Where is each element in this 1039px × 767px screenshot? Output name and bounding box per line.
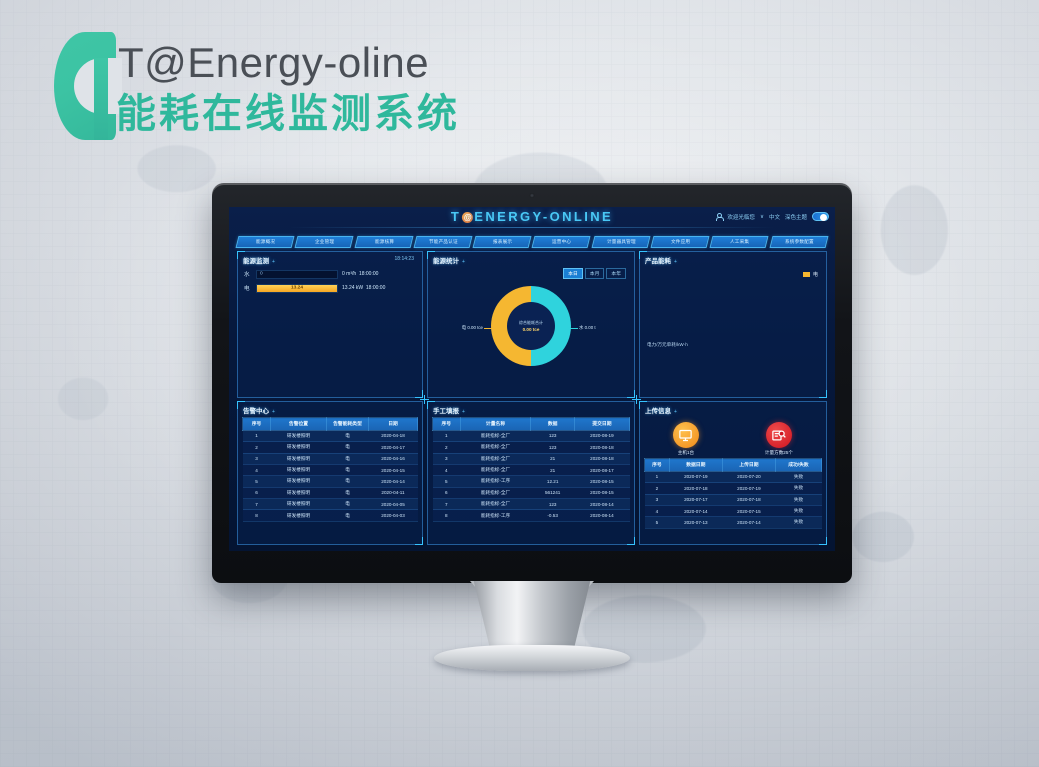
upload-stat-icons: 主机1台 计量方数25个 [640, 422, 826, 456]
computer-monitor: T@ENERGY-ONLINE 欢迎光临您 ∨ 中文 深色主题 能源概况 企业管… [212, 183, 852, 583]
panel-title-text-manual: 手工填报 [433, 408, 459, 415]
panel-title-product: 产品能耗+ [645, 255, 677, 265]
cell: 2020-04-05 [369, 499, 418, 510]
table-row[interactable]: 1研发楼照明电2020-04-18 [243, 430, 418, 441]
cell: 12.21 [531, 476, 574, 487]
table-row[interactable]: 3研发楼照明电2020-04-16 [243, 453, 418, 464]
bar-track-water: 0 [256, 270, 338, 279]
manual-table-header: 序号 计量名称 数据 提交日期 [433, 418, 630, 431]
expand-icon-manual[interactable]: + [462, 409, 465, 415]
cell: 2020-08-15 [574, 476, 629, 487]
page-title-cn: 能耗在线监测系统 [116, 94, 460, 134]
table-row[interactable]: 12020-07-192020-07-20失败 [645, 471, 822, 482]
cell: 5 [433, 476, 461, 487]
table-row[interactable]: 52020-07-132020-07-14失败 [645, 517, 822, 528]
nav-item-5[interactable]: 运营中心 [532, 236, 591, 248]
electric-time: 18:00:00 [366, 285, 385, 291]
cell: 2020-07-20 [722, 471, 775, 482]
tab-month[interactable]: 本月 [585, 268, 605, 279]
nav-item-6[interactable]: 计量器具管理 [591, 236, 650, 248]
panel-energy-monitor: 能源监测+ 18:14:23 水 0 0 m³/h 18:00:00 电 13.… [237, 251, 423, 398]
cell: 2020-07-19 [669, 471, 722, 482]
cell: 研发楼照明 [271, 476, 327, 487]
cell: 能耗指标-全厂 [460, 499, 531, 510]
nav-item-2[interactable]: 能源核算 [354, 236, 413, 248]
nav-item-4[interactable]: 报表展示 [473, 236, 532, 248]
panel-title-alarm: 告警中心+ [243, 405, 275, 415]
status-badge: 失败 [775, 517, 821, 528]
cell: 电 [327, 464, 369, 475]
donut-chart: 综合能耗合计 0.00 tce [491, 286, 571, 366]
cell: 2020-08-14 [574, 510, 629, 521]
nav-label-5: 运营中心 [552, 239, 571, 245]
cell: 2020-07-15 [722, 505, 775, 516]
table-row[interactable]: 5研发楼照明电2020-04-14 [243, 476, 418, 487]
panel-manual-entry: 手工填报+ 序号 计量名称 数据 提交日期 1能耗指标-全厂1232020-08… [427, 401, 635, 545]
cell: -0.53 [531, 510, 574, 521]
cell: 电 [327, 476, 369, 487]
upload-stat-host[interactable]: 主机1台 [673, 422, 699, 456]
expand-icon[interactable]: + [272, 259, 275, 265]
water-unit: 0 m³/h [342, 271, 356, 277]
donut-center-value: 0.00 tce [523, 327, 540, 332]
cell: 2020-08-18 [574, 442, 629, 453]
cell: 7 [433, 499, 461, 510]
row-label-water: 水 [244, 270, 252, 278]
nav-item-9[interactable]: 系统参数配置 [769, 236, 828, 248]
manual-col-0: 序号 [433, 418, 461, 431]
table-row[interactable]: 2能耗指标-全厂1232020-08-18 [433, 442, 630, 453]
expand-icon-product[interactable]: + [674, 259, 677, 265]
cell: 能耗指标-工序 [460, 510, 531, 521]
nav-label-9: 系统参数配置 [784, 239, 813, 245]
upload-col-0: 序号 [645, 459, 670, 472]
cell: 2020-07-14 [722, 517, 775, 528]
document-search-icon [766, 422, 792, 448]
cell: 4 [645, 505, 670, 516]
bar-value-electric: 13.24 [291, 286, 303, 291]
cell: 能耗指标-全厂 [460, 442, 531, 453]
cell: 2 [645, 483, 670, 494]
bar-fill-electric: 13.24 [257, 285, 337, 292]
table-row[interactable]: 2研发楼照明电2020-04-17 [243, 442, 418, 453]
cell: 2020-04-16 [369, 453, 418, 464]
cell: 能耗指标-全厂 [460, 464, 531, 475]
legend-swatch-electric [803, 272, 810, 277]
cell: 能耗指标-工序 [460, 476, 531, 487]
cell: 2020-08-17 [574, 464, 629, 475]
donut-center: 综合能耗合计 0.00 tce [507, 302, 555, 350]
upload-stat-meters[interactable]: 计量方数25个 [765, 422, 793, 456]
panel-energy-statistics: 能源统计+ 本日 本月 本年 电 0.00 tce 水 0.00 t 综合能耗合… [427, 251, 635, 398]
cell: 123 [531, 442, 574, 453]
manual-col-3: 提交日期 [574, 418, 629, 431]
cell: 21 [531, 464, 574, 475]
product-axis-label: 电力/万元单耗/kW·h [647, 342, 688, 348]
manual-table-body: 1能耗指标-全厂1232020-08-19 2能耗指标-全厂1232020-08… [433, 430, 630, 521]
cell: 2 [243, 442, 271, 453]
cell: 2 [433, 442, 461, 453]
panel-title-text: 能源监测 [243, 258, 269, 265]
alarm-table: 序号 告警位置 告警能耗类型 日期 1研发楼照明电2020-04-18 2研发楼… [242, 417, 418, 522]
panel-title-upload: 上传信息+ [645, 405, 677, 415]
nav-item-1[interactable]: 企业管理 [295, 236, 354, 248]
expand-icon-alarm[interactable]: + [272, 409, 275, 415]
user-name: 欢迎光临您 [727, 213, 755, 221]
cell: 2020-04-17 [369, 442, 418, 453]
nav-label-1: 企业管理 [315, 239, 334, 245]
alarm-col-1: 告警位置 [271, 418, 327, 431]
theme-label: 深色主题 [785, 213, 807, 221]
nav-label-8: 人工采集 [730, 239, 749, 245]
cell: 电 [327, 430, 369, 441]
nav-label-0: 能源概况 [256, 239, 275, 245]
legend-label-electric: 电 [813, 271, 818, 278]
water-time: 18:00:00 [359, 271, 378, 277]
panel-title-text-stats: 能源统计 [433, 258, 459, 265]
upload-col-2: 上传日期 [722, 459, 775, 472]
statistics-period-tabs: 本日 本月 本年 [563, 268, 626, 279]
logo-bar [94, 58, 108, 140]
cell: 2020-08-15 [574, 487, 629, 498]
donut-label-left: 电 0.00 tce [462, 325, 483, 331]
cell: 能耗指标-全厂 [460, 453, 531, 464]
table-row[interactable]: 6能耗指标-全厂5612412020-08-15 [433, 487, 630, 498]
table-row[interactable]: 4研发楼照明电2020-04-15 [243, 464, 418, 475]
table-row[interactable]: 32020-07-172020-07-18失败 [645, 494, 822, 505]
donut-center-label: 综合能耗合计 [519, 320, 543, 326]
panel-title-statistics: 能源统计+ [433, 255, 465, 265]
table-row[interactable]: 22020-07-182020-07-19失败 [645, 483, 822, 494]
table-row[interactable]: 1能耗指标-全厂1232020-08-19 [433, 430, 630, 441]
cell: 5 [645, 517, 670, 528]
nav-label-2: 能源核算 [374, 239, 393, 245]
nav-label-6: 计量器具管理 [607, 239, 636, 245]
status-badge: 失败 [775, 483, 821, 494]
cell: 3 [645, 494, 670, 505]
cell: 2020-07-19 [722, 483, 775, 494]
cell: 2020-07-14 [669, 505, 722, 516]
table-row[interactable]: 4能耗指标-全厂212020-08-17 [433, 464, 630, 475]
table-row[interactable]: 6研发楼照明电2020-04-11 [243, 487, 418, 498]
status-badge: 失败 [775, 494, 821, 505]
grid-cross-left [420, 395, 429, 404]
upload-table-body: 12020-07-192020-07-20失败 22020-07-182020-… [645, 471, 822, 528]
upload-col-3: 成功/失败 [775, 459, 821, 472]
cell: 电 [327, 487, 369, 498]
page-header: T@Energy-oline 能耗在线监测系统 [48, 22, 608, 157]
grid-cross-right [632, 395, 641, 404]
panel-title-text-upload: 上传信息 [645, 408, 671, 415]
status-badge: 失败 [775, 505, 821, 516]
language-menu[interactable]: 中文 [769, 213, 780, 221]
manual-col-2: 数据 [531, 418, 574, 431]
cell: 1 [645, 471, 670, 482]
cell: 2020-04-11 [369, 487, 418, 498]
monitor-stand-base [434, 645, 630, 671]
nav-item-7[interactable]: 文件应用 [651, 236, 710, 248]
panel-title-text-alarm: 告警中心 [243, 408, 269, 415]
alarm-table-body: 1研发楼照明电2020-04-18 2研发楼照明电2020-04-17 3研发楼… [243, 430, 418, 521]
cell: 能耗指标-全厂 [460, 487, 531, 498]
cell: 2020-08-19 [574, 430, 629, 441]
expand-icon-stats[interactable]: + [462, 259, 465, 265]
brand-logo-icon [54, 32, 116, 144]
page-title-en: T@Energy-oline [118, 42, 429, 84]
cell: 2020-07-18 [722, 494, 775, 505]
upload-table: 序号 数据日期 上传日期 成功/失败 12020-07-192020-07-20… [644, 458, 822, 529]
row-readout-water: 0 m³/h 18:00:00 [342, 271, 416, 277]
brand-at-icon: @ [462, 212, 473, 223]
cell: 电 [327, 442, 369, 453]
cell: 3 [243, 453, 271, 464]
panel-title-energy-monitor: 能源监测+ [243, 255, 275, 265]
cell: 2020-07-13 [669, 517, 722, 528]
status-badge: 失败 [775, 471, 821, 482]
brand-text-left: T [451, 209, 461, 224]
table-row[interactable]: 7研发楼照明电2020-04-05 [243, 499, 418, 510]
cell: 2020-08-14 [574, 499, 629, 510]
cell: 8 [243, 510, 271, 521]
cell: 8 [433, 510, 461, 521]
cell: 6 [433, 487, 461, 498]
brand-text-right: ENERGY-ONLINE [474, 209, 613, 224]
electric-unit: 13.24 kW [342, 285, 363, 291]
alarm-col-3: 日期 [369, 418, 418, 431]
app-topbar: T@ENERGY-ONLINE 欢迎光临您 ∨ 中文 深色主题 [229, 207, 835, 234]
cell: 2020-08-18 [574, 453, 629, 464]
monitor-screen: T@ENERGY-ONLINE 欢迎光临您 ∨ 中文 深色主题 能源概况 企业管… [229, 207, 835, 551]
cell: 研发楼照明 [271, 464, 327, 475]
upload-col-1: 数据日期 [669, 459, 722, 472]
row-readout-electric: 13.24 kW 18:00:00 [342, 285, 416, 291]
table-row[interactable]: 8能耗指标-工序-0.532020-08-14 [433, 510, 630, 521]
user-controls[interactable]: 欢迎光临您 ∨ 中文 深色主题 [715, 212, 829, 221]
cell: 4 [433, 464, 461, 475]
nav-item-3[interactable]: 节能产品认证 [413, 236, 472, 248]
cell: 1 [433, 430, 461, 441]
upload-table-header: 序号 数据日期 上传日期 成功/失败 [645, 459, 822, 472]
manual-table: 序号 计量名称 数据 提交日期 1能耗指标-全厂1232020-08-19 2能… [432, 417, 630, 522]
tab-day[interactable]: 本日 [563, 268, 583, 279]
alarm-table-header: 序号 告警位置 告警能耗类型 日期 [243, 418, 418, 431]
upload-caption-meters: 计量方数25个 [765, 450, 793, 456]
alarm-col-0: 序号 [243, 418, 271, 431]
cell: 研发楼照明 [271, 487, 327, 498]
table-row[interactable]: 42020-07-142020-07-15失败 [645, 505, 822, 516]
monitor-timestamp: 18:14:23 [395, 256, 414, 262]
app-brand: T@ENERGY-ONLINE [451, 209, 613, 224]
monitor-stand-neck-gloss [470, 581, 594, 653]
cell: 3 [433, 453, 461, 464]
bar-track-electric: 13.24 [256, 284, 338, 293]
nav-item-0[interactable]: 能源概况 [236, 236, 295, 248]
user-icon [715, 213, 722, 220]
chevron-down-icon[interactable]: ∨ [760, 214, 764, 220]
alarm-col-2: 告警能耗类型 [327, 418, 369, 431]
panel-title-manual: 手工填报+ [433, 405, 465, 415]
cell: 研发楼照明 [271, 510, 327, 521]
cell: 研发楼照明 [271, 453, 327, 464]
cell: 561241 [531, 487, 574, 498]
panel-product-energy: 产品能耗+ 电 电力/万元单耗/kW·h [639, 251, 827, 398]
cell: 2020-04-18 [369, 430, 418, 441]
table-row[interactable]: 8研发楼照明电2020-04-03 [243, 510, 418, 521]
nav-item-8[interactable]: 人工采集 [710, 236, 769, 248]
cell: 研发楼照明 [271, 442, 327, 453]
cell: 1 [243, 430, 271, 441]
cell: 2020-04-14 [369, 476, 418, 487]
cell: 2020-07-17 [669, 494, 722, 505]
cell: 电 [327, 510, 369, 521]
table-row[interactable]: 7能耗指标-全厂1232020-08-14 [433, 499, 630, 510]
cell: 4 [243, 464, 271, 475]
nav-label-7: 文件应用 [671, 239, 690, 245]
nav-label-3: 节能产品认证 [429, 239, 458, 245]
cell: 123 [531, 499, 574, 510]
main-nav: 能源概况 企业管理 能源核算 节能产品认证 报表展示 运营中心 计量器具管理 文… [237, 235, 827, 248]
product-legend: 电 [803, 271, 818, 278]
cell: 研发楼照明 [271, 499, 327, 510]
cell: 21 [531, 453, 574, 464]
cell: 2020-04-15 [369, 464, 418, 475]
theme-toggle[interactable] [812, 212, 829, 221]
panel-upload-info: 上传信息+ 主机1台 [639, 401, 827, 545]
panel-alarm-center: 告警中心+ 序号 告警位置 告警能耗类型 日期 1研发楼照明电2020-04-1… [237, 401, 423, 545]
cell: 2020-04-03 [369, 510, 418, 521]
cell: 能耗指标-全厂 [460, 430, 531, 441]
nav-label-4: 报表展示 [493, 239, 512, 245]
table-row[interactable]: 5能耗指标-工序12.212020-08-15 [433, 476, 630, 487]
panel-title-text-product: 产品能耗 [645, 258, 671, 265]
cell: 7 [243, 499, 271, 510]
energy-bar-row-water: 水 0 0 m³/h 18:00:00 [244, 269, 416, 279]
expand-icon-upload[interactable]: + [674, 409, 677, 415]
cell: 研发楼照明 [271, 430, 327, 441]
cell: 2020-07-18 [669, 483, 722, 494]
tab-year[interactable]: 本年 [606, 268, 626, 279]
computer-icon [673, 422, 699, 448]
donut-label-right: 水 0.00 t [579, 325, 596, 331]
cell: 123 [531, 430, 574, 441]
manual-col-1: 计量名称 [460, 418, 531, 431]
cell: 6 [243, 487, 271, 498]
cell: 电 [327, 499, 369, 510]
energy-bar-row-electric: 电 13.24 13.24 kW 18:00:00 [244, 283, 416, 293]
upload-caption-host: 主机1台 [678, 450, 694, 456]
table-row[interactable]: 3能耗指标-全厂212020-08-18 [433, 453, 630, 464]
cell: 电 [327, 453, 369, 464]
bar-value-water: 0 [260, 272, 263, 277]
row-label-electric: 电 [244, 284, 252, 292]
cell: 5 [243, 476, 271, 487]
